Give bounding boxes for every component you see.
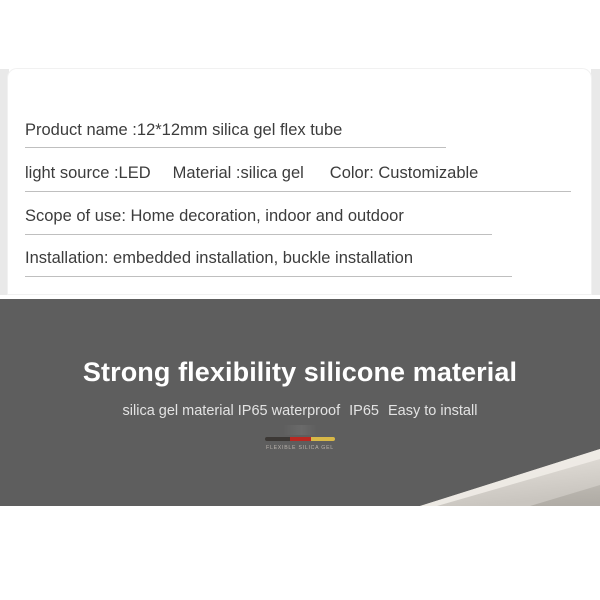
badge-watermark-icon — [283, 425, 317, 435]
spec-installation-text: Installation: embedded installation, buc… — [25, 249, 413, 267]
specification-list: Product name :12*12mm silica gel flex tu… — [8, 69, 591, 277]
spec-scope-of-use-text: Scope of use: Home decoration, indoor an… — [25, 207, 404, 225]
badge-bar-segment-dark — [265, 437, 290, 441]
spec-row-product-name: Product name :12*12mm silica gel flex tu… — [8, 102, 591, 148]
spec-row-installation: Installation: embedded installation, buc… — [8, 235, 591, 277]
banner-subtitle-part1: silica gel material IP65 waterproof — [123, 403, 341, 419]
banner-subtitle-part3: Easy to install — [388, 403, 477, 419]
card-right-gutter — [591, 69, 600, 295]
badge-label: FLEXIBLE SILICA GEL — [0, 445, 600, 451]
marketing-banner: Strong flexibility silicone material sil… — [0, 299, 600, 506]
spec-product-name-text: Product name :12*12mm silica gel flex tu… — [25, 121, 342, 139]
banner-title: Strong flexibility silicone material — [0, 357, 600, 388]
spec-row-scope-of-use: Scope of use: Home decoration, indoor an… — [8, 192, 591, 235]
spec-row-divider — [25, 276, 512, 277]
brand-badge: FLEXIBLE SILICA GEL — [0, 425, 600, 451]
spec-row-light-material-color: light source :LEDMaterial :silica gelCol… — [8, 148, 591, 192]
badge-bar-segment-red — [290, 437, 311, 441]
badge-bar-segment-yellow — [311, 437, 336, 441]
banner-subtitle-part2: IP65 — [349, 403, 379, 419]
bottom-whitespace — [0, 506, 600, 600]
banner-subtitle: silica gel material IP65 waterproofIP65E… — [0, 403, 600, 419]
product-detail-page: Product name :12*12mm silica gel flex tu… — [0, 0, 600, 600]
badge-tricolor-bar-icon — [265, 437, 335, 441]
specification-card: Product name :12*12mm silica gel flex tu… — [8, 69, 591, 294]
